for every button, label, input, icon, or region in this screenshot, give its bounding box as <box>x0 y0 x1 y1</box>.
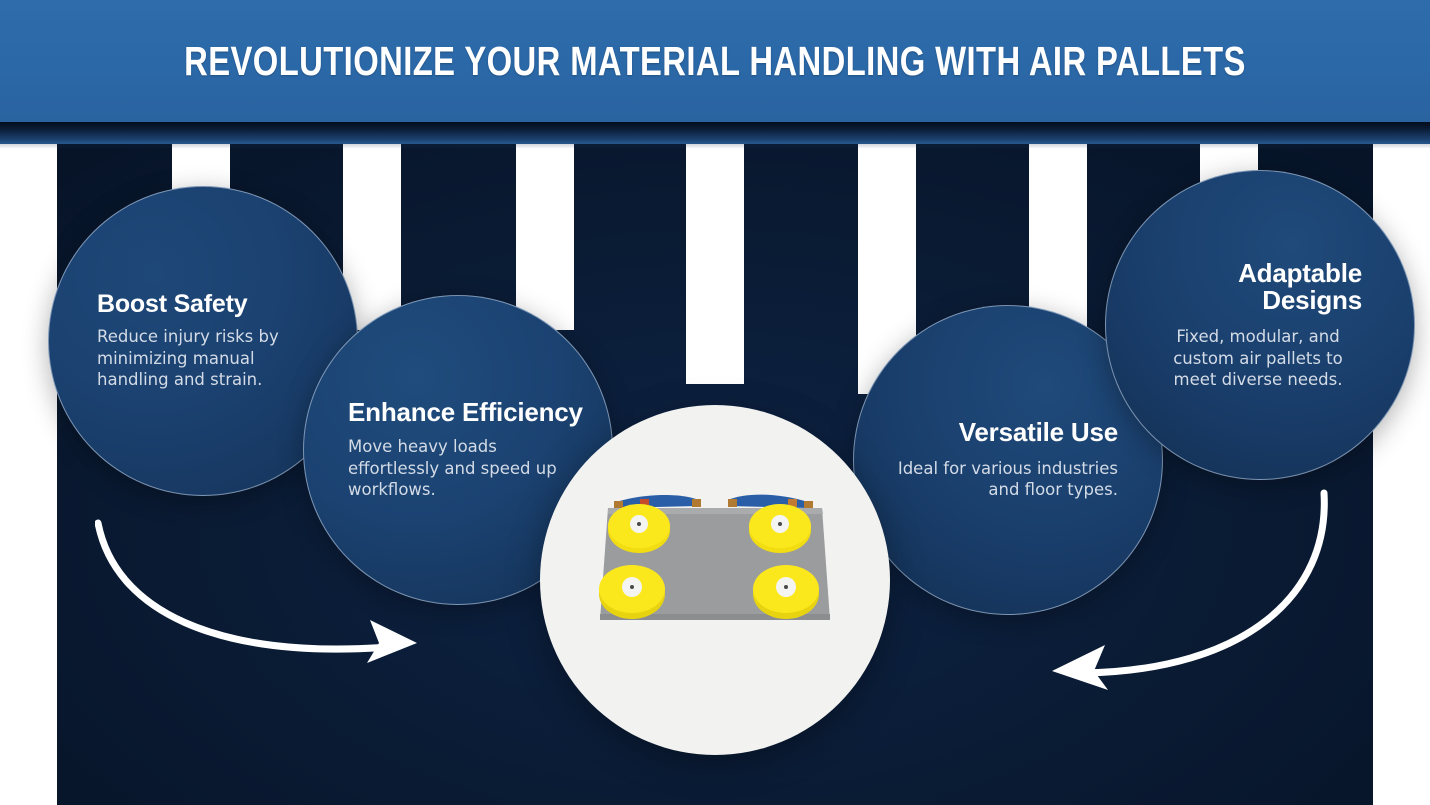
feature-title: Boost Safety <box>97 291 323 317</box>
background-stripe <box>1029 144 1087 330</box>
product-image-medallion <box>540 405 890 755</box>
feature-body: Fixed, modular, and custom air pallets t… <box>1154 326 1362 390</box>
feature-title: Versatile Use <box>882 419 1118 446</box>
feature-title-line-2: Designs <box>1154 287 1362 314</box>
header-shadow <box>0 122 1430 148</box>
air-pallet-product-photo <box>594 488 836 638</box>
background-stripe <box>516 144 574 330</box>
background-stripe <box>686 144 744 384</box>
header-banner: REVOLUTIONIZE YOUR MATERIAL HANDLING WIT… <box>0 0 1430 122</box>
feature-content: Versatile Use Ideal for various industri… <box>854 419 1162 500</box>
feature-circle-adaptable-designs[interactable]: Adaptable Designs Fixed, modular, and cu… <box>1105 170 1415 480</box>
feature-title: Enhance Efficiency <box>348 399 584 426</box>
feature-body: Ideal for various industries and floor t… <box>882 458 1118 501</box>
feature-body: Reduce injury risks by minimizing manual… <box>97 326 323 390</box>
feature-content: Boost Safety Reduce injury risks by mini… <box>49 291 357 391</box>
background-edge-left <box>0 144 57 805</box>
feature-content: Adaptable Designs Fixed, modular, and cu… <box>1106 260 1414 391</box>
feature-content: Enhance Efficiency Move heavy loads effo… <box>304 399 612 501</box>
feature-title: Adaptable Designs <box>1154 260 1362 315</box>
infographic-slide: Boost Safety Reduce injury risks by mini… <box>0 0 1430 805</box>
feature-body: Move heavy loads effortlessly and speed … <box>348 436 584 500</box>
page-title: REVOLUTIONIZE YOUR MATERIAL HANDLING WIT… <box>143 0 1287 122</box>
feature-title-line-1: Adaptable <box>1154 260 1362 287</box>
